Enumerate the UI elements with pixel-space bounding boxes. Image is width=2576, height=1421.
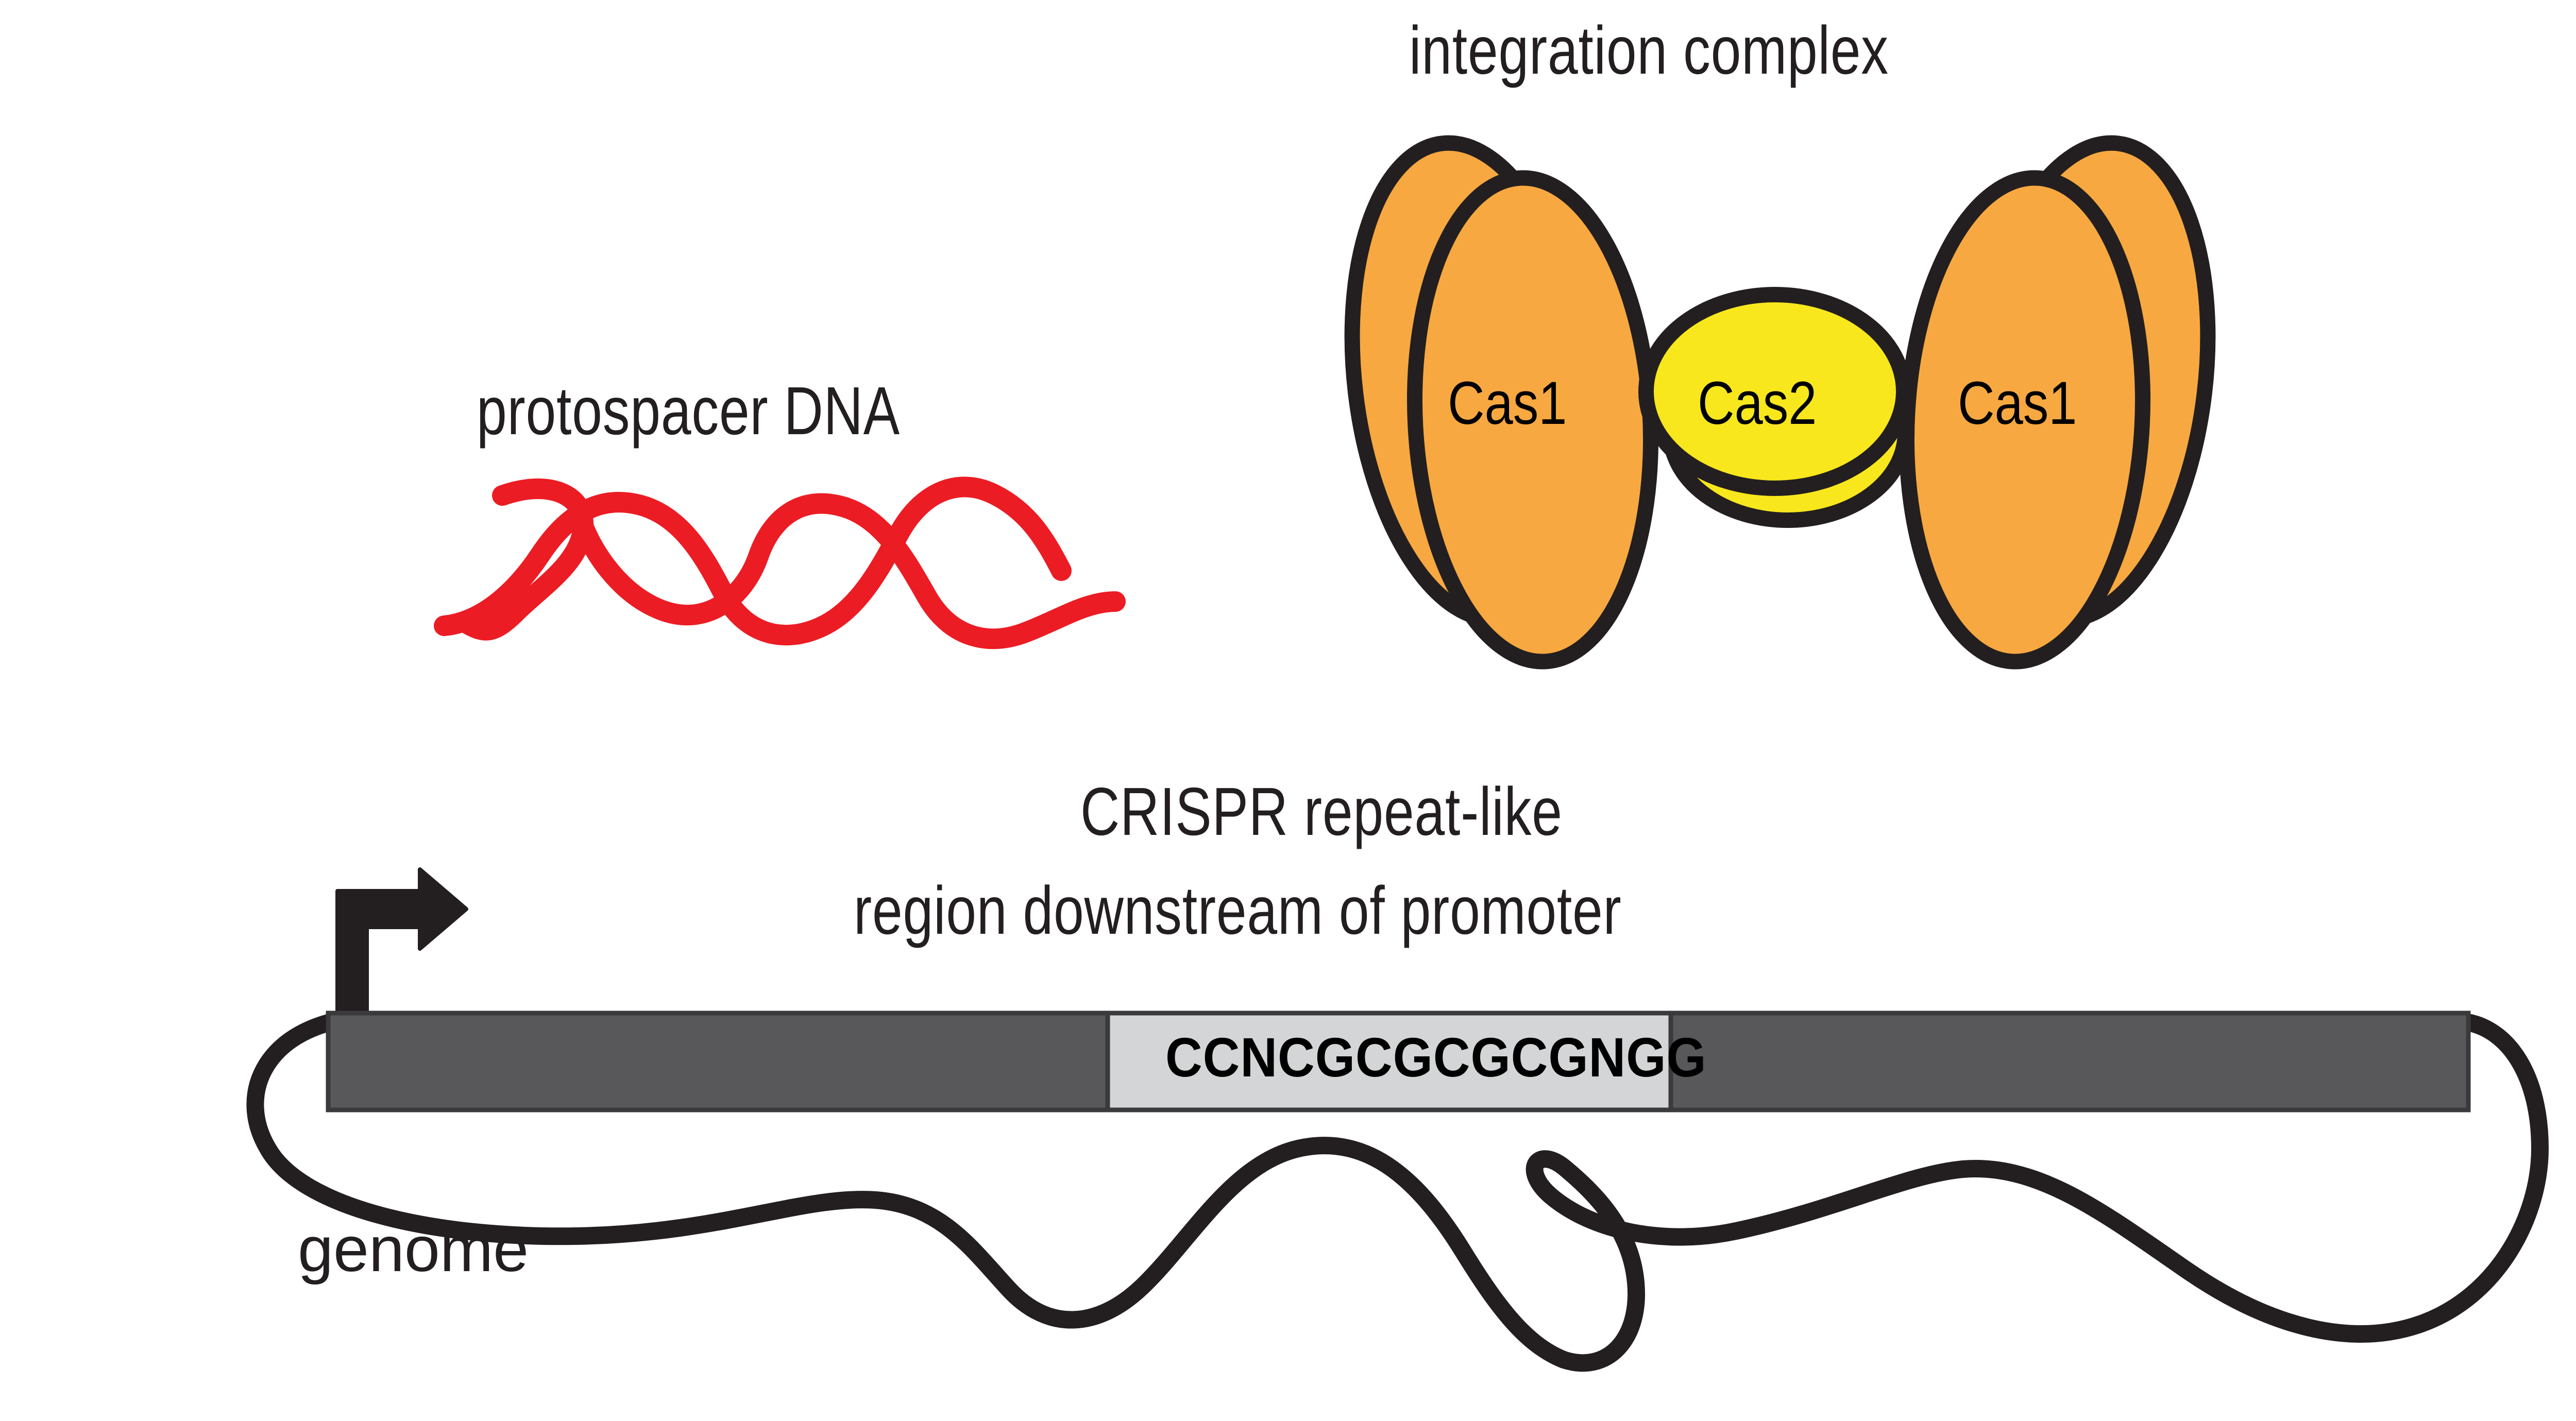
cas1-left-label: Cas1: [1448, 368, 1567, 438]
genome-bar-segment-right: [1671, 1013, 2468, 1110]
genome-curve-loop-knot: [1535, 1159, 1963, 1363]
diagram-artwork: [0, 0, 2576, 1421]
integration-complex-label: integration complex: [1409, 11, 1889, 89]
protospacer-dna-label: protospacer DNA: [477, 372, 900, 450]
dna-sequence-text: CCNCGCGCGCGNGG: [1165, 1025, 1707, 1089]
promoter-arrow-icon: [337, 869, 466, 1022]
crispr-repeat-label-line2: region downstream of promoter: [854, 871, 1622, 949]
genome-label: genome: [298, 1213, 529, 1286]
protospacer-dna-helix: [444, 487, 1115, 639]
crispr-repeat-label-line1: CRISPR repeat-like: [1080, 773, 1563, 850]
genome-bar-segment-left: [328, 1013, 1111, 1110]
cas1-right-label: Cas1: [1958, 368, 2077, 438]
figure-canvas: integration complex protospacer DNA CRIS…: [0, 0, 2576, 1421]
cas2-label: Cas2: [1698, 368, 1817, 438]
